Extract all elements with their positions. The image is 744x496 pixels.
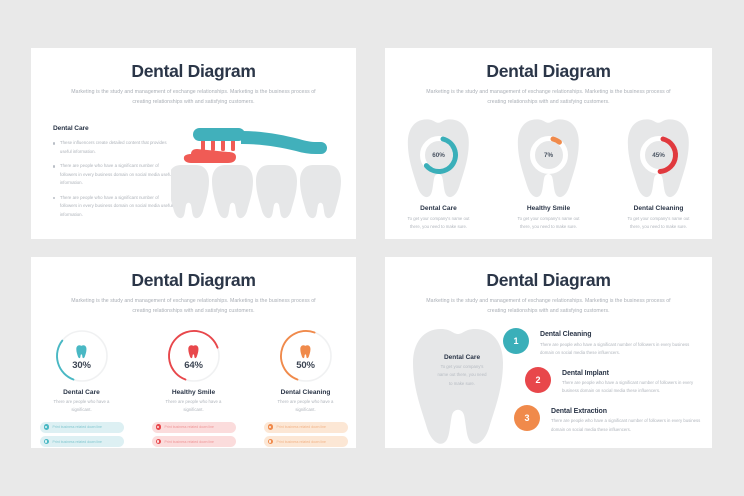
check-circle-icon [44, 424, 50, 430]
donut-percent-label: 45% [638, 134, 680, 176]
pill-list: Print business related down line Print b… [262, 422, 350, 448]
tooth-donut: 60% [397, 118, 481, 202]
pill-text: Print business related down line [165, 440, 214, 444]
donut-ring: 60% [418, 134, 460, 176]
percent-label: 64% [184, 360, 202, 371]
donut-percent-label: 7% [528, 134, 570, 176]
service-title: Dental Cleaning [540, 331, 701, 338]
stat-title: Dental Cleaning [617, 205, 701, 212]
stat-title: Healthy Smile [507, 205, 591, 212]
percent-card[interactable]: 64% Healthy Smile There are people who h… [150, 328, 238, 448]
service-text: Dental Implant There are people who have… [551, 367, 701, 396]
service-desc: There are people who have a significant … [551, 417, 701, 434]
pill-item[interactable]: Print business related down line [40, 422, 124, 433]
page-title: Dental Diagram [31, 61, 356, 82]
check-circle-icon [268, 439, 274, 445]
slide1-body: Dental Care These influencers create det… [31, 123, 356, 239]
card-title: Dental Care [38, 389, 126, 396]
stat-title: Dental Care [397, 205, 481, 212]
pill-item[interactable]: Print business related down line [152, 436, 236, 447]
bullet-text: These influencers create detailed conten… [60, 139, 177, 156]
slide-tooth-donut-stats[interactable]: Dental Diagram Marketing is the study an… [385, 48, 712, 239]
big-tooth-label: Dental Care To get your company's name o… [425, 354, 499, 387]
check-circle-icon [44, 439, 50, 445]
card-desc: There are people who have a significant. [150, 398, 238, 414]
check-circle-icon [268, 424, 274, 430]
progress-circle: 64% [166, 328, 222, 384]
card-desc: There are people who have a significant. [262, 398, 350, 414]
pill-item[interactable]: Print business related down line [40, 436, 124, 447]
progress-circle-content: 64% [166, 328, 222, 384]
slide4-service-list: 1 Dental Cleaning There are people who h… [503, 328, 701, 443]
stat-card[interactable]: 7% Healthy Smile To get your company's n… [507, 118, 591, 231]
progress-circle-content: 30% [54, 328, 110, 384]
list-item: There are people who have a significant … [53, 194, 177, 219]
donut-ring: 7% [528, 134, 570, 176]
slide3-stat-row: 30% Dental Care There are people who hav… [31, 328, 356, 448]
check-circle-icon [156, 424, 162, 430]
service-desc: There are people who have a significant … [540, 341, 701, 358]
service-title: Dental Extraction [551, 408, 701, 415]
donut-percent-label: 60% [418, 134, 460, 176]
stat-desc: To get your company's name out there, yo… [397, 215, 481, 231]
percent-label: 50% [296, 360, 314, 371]
tooth-icon [76, 345, 87, 359]
progress-circle: 50% [278, 328, 334, 384]
slide-numbered-services[interactable]: Dental Diagram Marketing is the study an… [385, 257, 712, 448]
card-title: Healthy Smile [150, 389, 238, 396]
service-row[interactable]: 2 Dental Implant There are people who ha… [525, 367, 701, 396]
pill-text: Print business related down line [53, 425, 102, 429]
stat-card[interactable]: 45% Dental Cleaning To get your company'… [617, 118, 701, 231]
service-title: Dental Implant [562, 370, 701, 377]
progress-circle-content: 50% [278, 328, 334, 384]
pill-item[interactable]: Print business related down line [152, 422, 236, 433]
slide1-heading: Dental Care [53, 125, 177, 132]
check-circle-icon [156, 439, 162, 445]
percent-label: 30% [72, 360, 90, 371]
card-desc: There are people who have a significant. [38, 398, 126, 414]
page-subtitle: Marketing is the study and management of… [68, 88, 320, 107]
stat-desc: To get your company's name out there, yo… [507, 215, 591, 231]
bullet-text: There are people who have a significant … [60, 162, 177, 187]
bullet-dot-icon [53, 165, 55, 167]
pill-item[interactable]: Print business related down line [264, 422, 348, 433]
pill-list: Print business related down line Print b… [38, 422, 126, 448]
step-number-badge: 1 [503, 328, 529, 354]
tooth-donut: 7% [507, 118, 591, 202]
pill-text: Print business related down line [277, 440, 326, 444]
service-desc: There are people who have a significant … [562, 379, 701, 396]
percent-card[interactable]: 30% Dental Care There are people who hav… [38, 328, 126, 448]
tooth-icon [300, 345, 311, 359]
teeth-row [171, 165, 341, 218]
stat-desc: To get your company's name out there, yo… [617, 215, 701, 231]
list-item: There are people who have a significant … [53, 162, 177, 187]
bullet-text: There are people who have a significant … [60, 194, 177, 219]
bullet-dot-icon [53, 142, 55, 144]
service-text: Dental Cleaning There are people who hav… [529, 328, 701, 357]
stat-card[interactable]: 60% Dental Care To get your company's na… [397, 118, 481, 231]
page-title: Dental Diagram [385, 61, 712, 82]
card-title: Dental Cleaning [262, 389, 350, 396]
service-row[interactable]: 3 Dental Extraction There are people who… [514, 405, 701, 434]
page-subtitle: Marketing is the study and management of… [68, 297, 320, 316]
pill-text: Print business related down line [165, 425, 214, 429]
progress-circle: 30% [54, 328, 110, 384]
tooth-icon [188, 345, 199, 359]
slide-dental-care-overview[interactable]: Dental Diagram Marketing is the study an… [31, 48, 356, 239]
big-tooth-desc: To get your company's name out there, yo… [425, 363, 499, 387]
pill-text: Print business related down line [277, 425, 326, 429]
bullet-dot-icon [53, 197, 55, 199]
page-title: Dental Diagram [31, 270, 356, 291]
percent-card[interactable]: 50% Dental Cleaning There are people who… [262, 328, 350, 448]
presentation-canvas: Dental Diagram Marketing is the study an… [0, 0, 744, 496]
pill-item[interactable]: Print business related down line [264, 436, 348, 447]
slide2-stat-row: 60% Dental Care To get your company's na… [385, 118, 712, 231]
donut-ring: 45% [638, 134, 680, 176]
pill-text: Print business related down line [53, 440, 102, 444]
service-row[interactable]: 1 Dental Cleaning There are people who h… [503, 328, 701, 357]
list-item: These influencers create detailed conten… [53, 139, 177, 156]
service-text: Dental Extraction There are people who h… [540, 405, 701, 434]
big-tooth-title: Dental Care [425, 354, 499, 361]
slide-circle-percent-cards[interactable]: Dental Diagram Marketing is the study an… [31, 257, 356, 448]
page-title: Dental Diagram [385, 270, 712, 291]
page-subtitle: Marketing is the study and management of… [423, 88, 675, 107]
step-number-badge: 3 [514, 405, 540, 431]
tooth-donut: 45% [617, 118, 701, 202]
slide4-body: Dental Care To get your company's name o… [385, 324, 712, 448]
step-number-badge: 2 [525, 367, 551, 393]
pill-list: Print business related down line Print b… [150, 422, 238, 448]
page-subtitle: Marketing is the study and management of… [423, 297, 675, 316]
toothbrush-teeth-illustration [171, 123, 341, 235]
slide1-text-column: Dental Care These influencers create det… [53, 125, 177, 225]
